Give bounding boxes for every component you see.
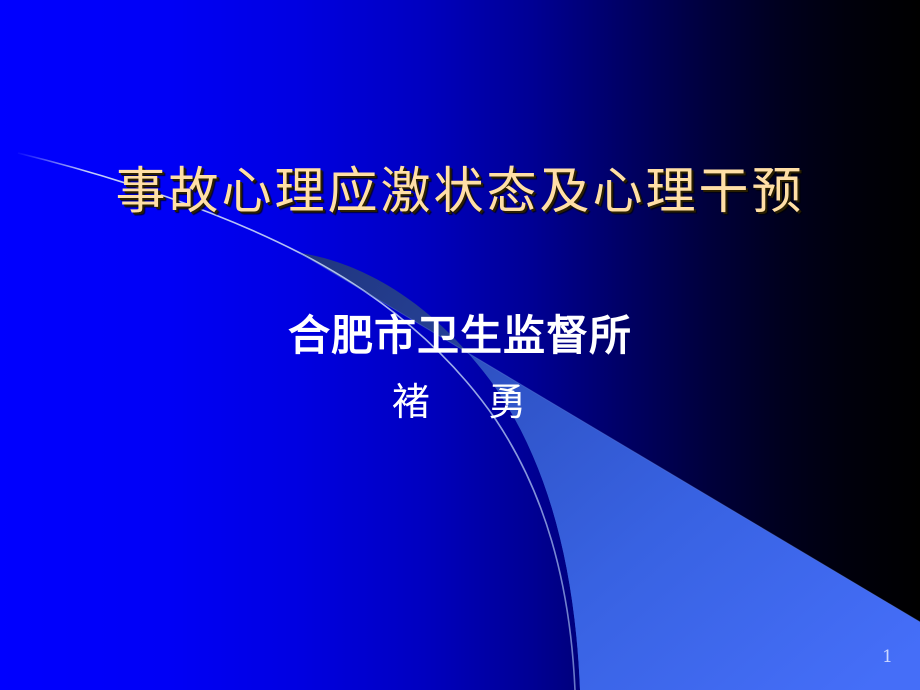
slide-text-layer: 事故心理应激状态及心理干预 合肥市卫生监督所 褚 勇 1 — [0, 0, 920, 690]
page-number: 1 — [882, 649, 893, 666]
slide-title: 事故心理应激状态及心理干预 — [0, 164, 920, 218]
title-slide: 事故心理应激状态及心理干预 合肥市卫生监督所 褚 勇 1 — [0, 0, 920, 690]
organization-name: 合肥市卫生监督所 — [0, 313, 920, 359]
author-name: 褚 勇 — [0, 382, 920, 424]
